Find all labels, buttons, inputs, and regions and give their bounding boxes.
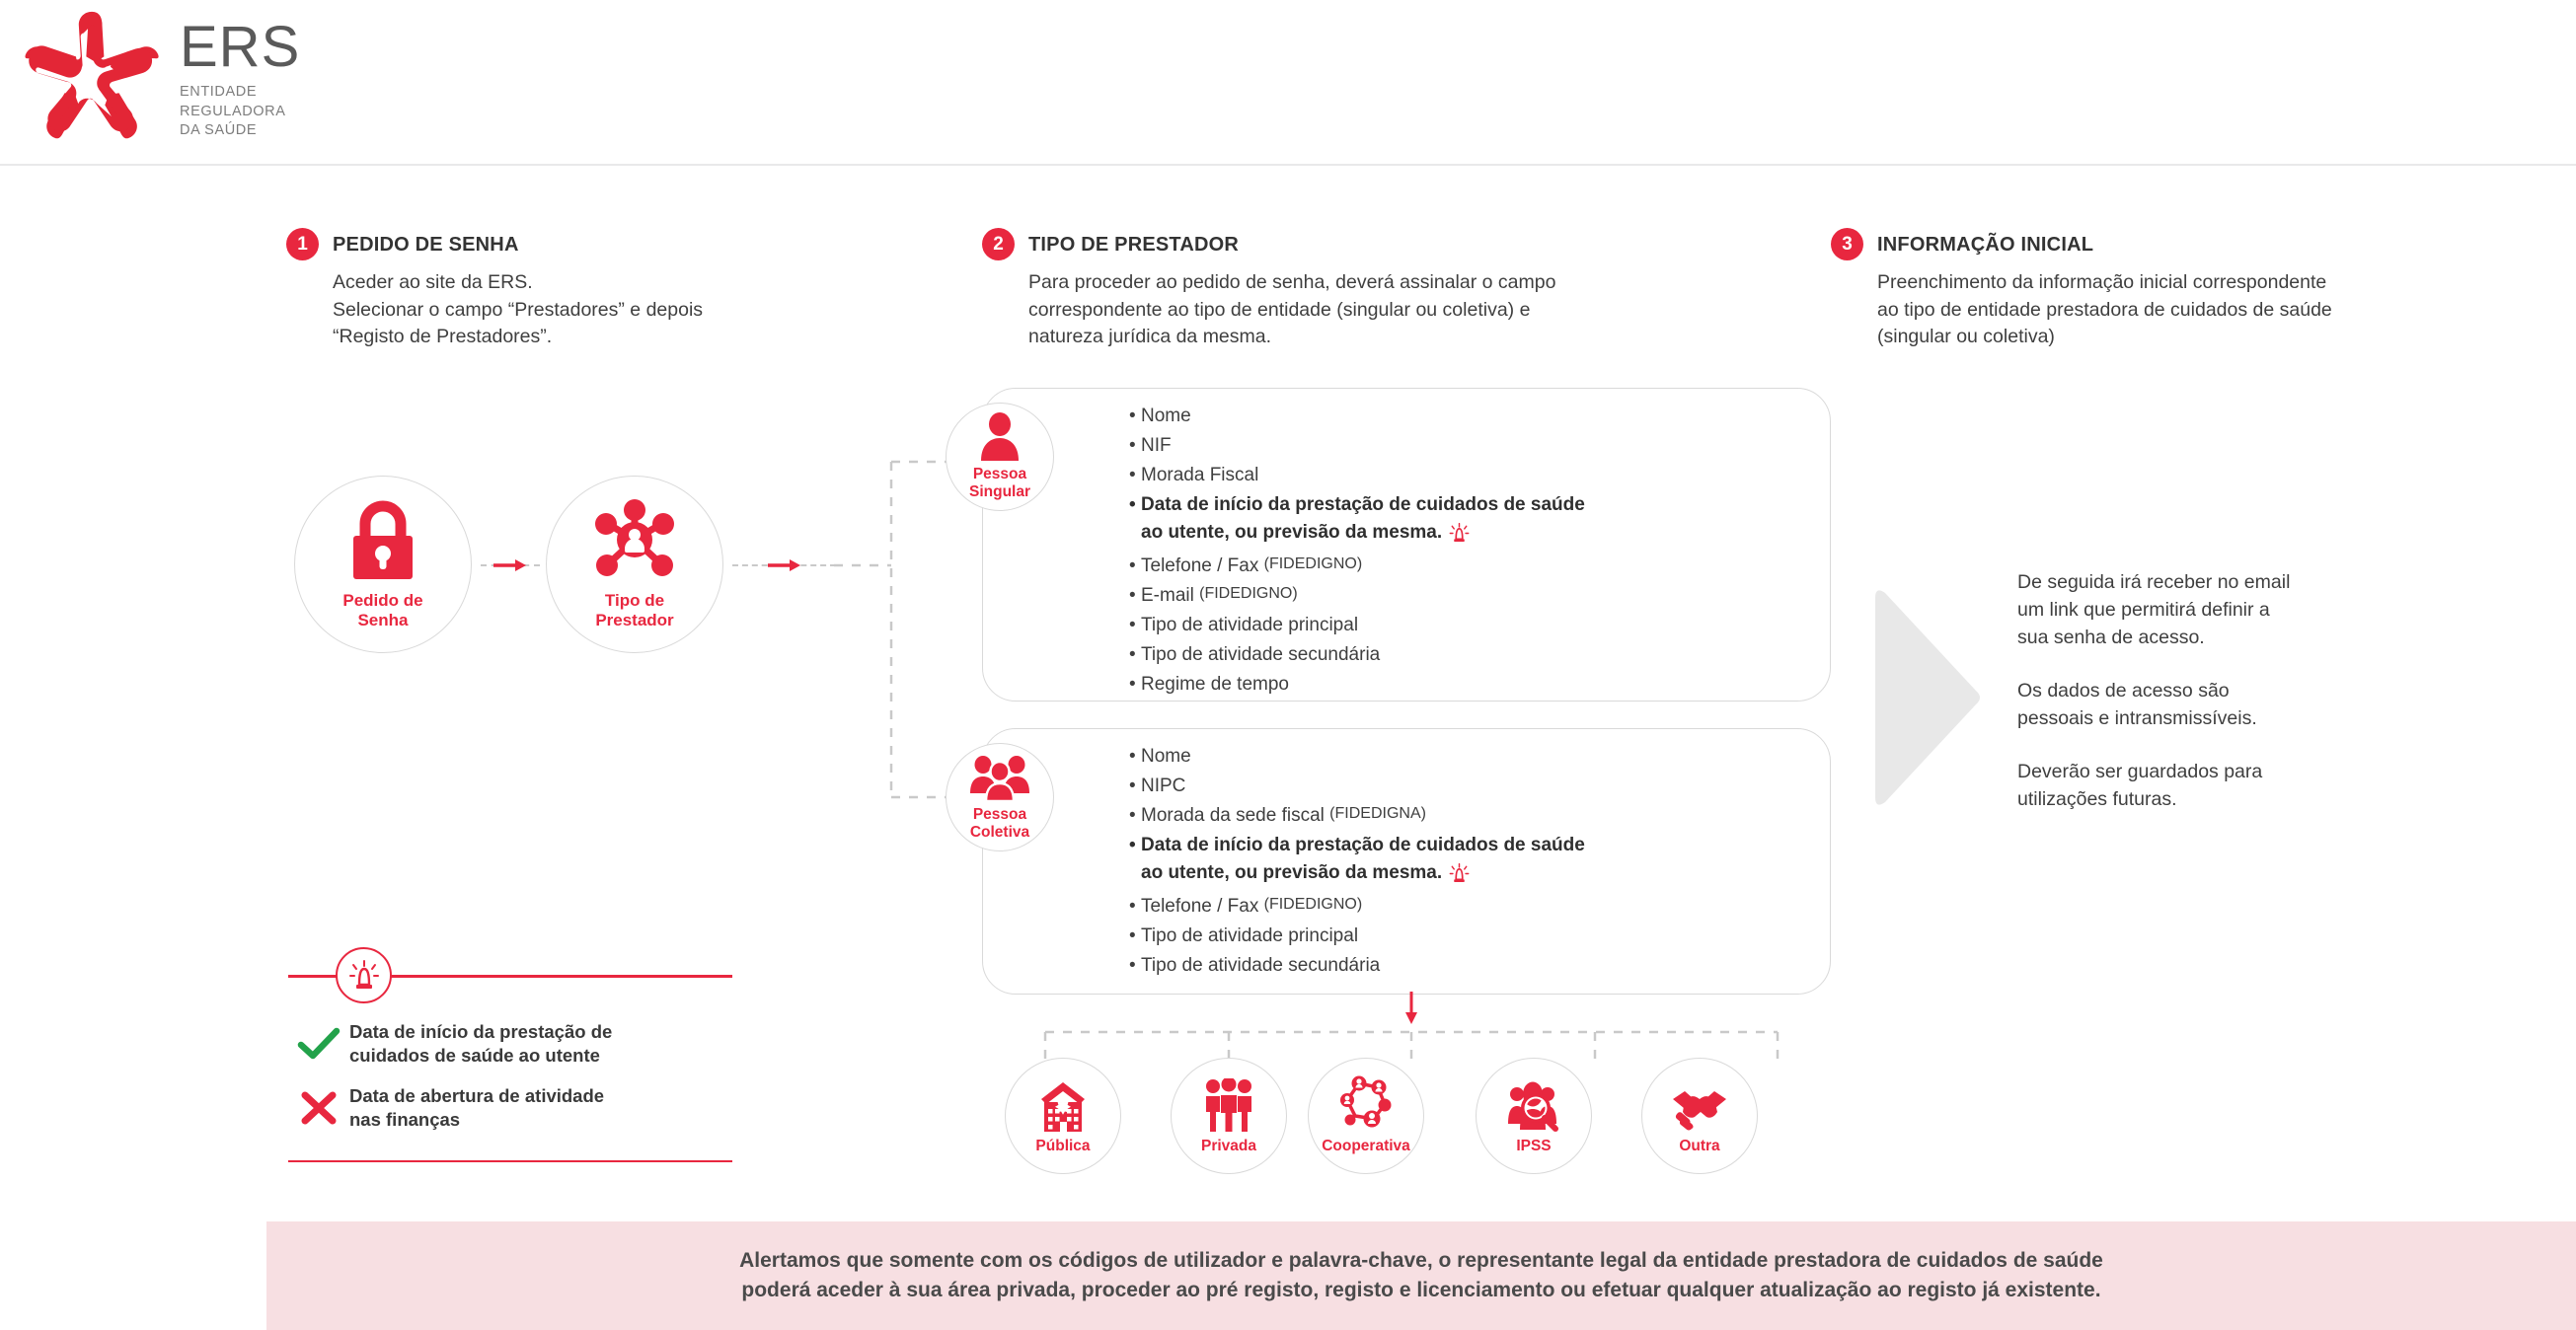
- red-cross-icon: [288, 1090, 349, 1126]
- three-people-icon: [1203, 1076, 1254, 1132]
- hospital-building-icon: [1035, 1076, 1091, 1132]
- right-note-block: De seguida irá receber no email um link …: [2017, 568, 2442, 814]
- single-person-icon: [977, 413, 1023, 461]
- bullet-item: •Nome: [1129, 406, 1585, 425]
- step-1-block: 1 PEDIDO DE SENHA Aceder ao site da ERS.…: [286, 232, 839, 351]
- entity-type-ipss[interactable]: IPSS: [1476, 1058, 1592, 1174]
- bullet-dot-icon: •: [1129, 806, 1141, 825]
- bullet-item-text: Tipo de atividade principal: [1141, 926, 1358, 945]
- entity-type-publica[interactable]: Pública: [1005, 1058, 1121, 1174]
- bullet-item: •Tipo de atividade secundária: [1129, 956, 1585, 975]
- step-2-number: 2: [982, 228, 1015, 260]
- bullet-item: •Data de início da prestação de cuidados…: [1129, 495, 1585, 514]
- logo-subtitle-line-1: ENTIDADE: [180, 83, 300, 102]
- alert-banner-text: Alertamos que somente com os códigos de …: [739, 1246, 2103, 1306]
- bullet-item: •Data de início da prestação de cuidados…: [1129, 836, 1585, 854]
- bullet-dot-icon: •: [1129, 616, 1141, 634]
- step-2-title: TIPO DE PRESTADOR: [1028, 232, 1239, 257]
- bullet-item-text: Morada da sede fiscal: [1141, 806, 1329, 825]
- bullet-item: •Morada da sede fiscal (FIDEDIGNA): [1129, 806, 1585, 825]
- padlock-icon: [345, 498, 420, 581]
- bullet-dot-icon: •: [1129, 556, 1141, 575]
- bullet-item: •E-mail (FIDEDIGNO): [1129, 586, 1585, 605]
- group-people-icon: [969, 754, 1030, 801]
- bullet-dot-icon: •: [1129, 675, 1141, 694]
- step-1-number: 1: [286, 228, 319, 260]
- step-3-body: Preenchimento da informação inicial corr…: [1877, 269, 2462, 351]
- step-1-body: Aceder ao site da ERS. Selecionar o camp…: [333, 269, 839, 351]
- ers-starfish-logo-icon: [18, 10, 168, 150]
- avatar-label: Pessoa Coletiva: [970, 806, 1029, 842]
- entity-type-privada[interactable]: Privada: [1171, 1058, 1287, 1174]
- legend-label: Data de início da prestação de cuidados …: [349, 1020, 612, 1069]
- bullet-item: •NIF: [1129, 436, 1585, 455]
- right-chevron-arrow-icon: [1867, 584, 1982, 811]
- bullet-item-text: Telefone / Fax: [1141, 897, 1264, 916]
- logo-subtitle-line-3: DA SAÚDE: [180, 121, 300, 140]
- entity-type-label: IPSS: [1516, 1138, 1551, 1154]
- legend-siren-badge: [336, 947, 392, 1003]
- bullet-item-text: Telefone / Fax: [1141, 556, 1264, 575]
- bullet-dot-icon: •: [1129, 436, 1141, 455]
- bullet-dot-icon: •: [1129, 836, 1141, 854]
- legend-divider-bottom: [288, 1160, 732, 1163]
- flow-circle-pedido-senha[interactable]: Pedido de Senha: [294, 476, 472, 653]
- bullet-dot-icon: •: [1129, 747, 1141, 766]
- bullet-item-text: Tipo de atividade secundária: [1141, 645, 1380, 664]
- bullet-item-note: (FIDEDIGNA): [1329, 806, 1426, 822]
- bullet-item: •Regime de tempo: [1129, 675, 1585, 694]
- logo-acronym: ERS: [180, 19, 300, 76]
- entity-type-label: Privada: [1201, 1138, 1256, 1154]
- cooperative-network-icon: [1337, 1076, 1395, 1132]
- bullet-item: •Telefone / Fax (FIDEDIGNO): [1129, 556, 1585, 575]
- bullet-dot-icon: •: [1129, 897, 1141, 916]
- ipss-people-magnifier-icon: [1506, 1076, 1561, 1132]
- siren-alert-icon: [1449, 523, 1470, 548]
- bullet-item-text: Nome: [1141, 747, 1191, 766]
- bullet-item: •Tipo de atividade principal: [1129, 926, 1585, 945]
- handshake-icon: [1671, 1076, 1728, 1132]
- flow-arrow-2: [732, 555, 836, 575]
- entity-type-outra[interactable]: Outra: [1641, 1058, 1758, 1174]
- bullet-item-text: Data de início da prestação de cuidados …: [1141, 495, 1585, 514]
- avatar-label: Pessoa Singular: [969, 466, 1030, 501]
- right-note-paragraph-3: Deverão ser guardados para utilizações f…: [2017, 758, 2442, 813]
- bullet-dot-icon: •: [1129, 586, 1141, 605]
- ers-logo: ERS ENTIDADE REGULADORA DA SAÚDE: [18, 10, 300, 150]
- right-note-paragraph-2: Os dados de acesso são pessoais e intran…: [2017, 677, 2442, 732]
- bullet-dot-icon: •: [1129, 776, 1141, 795]
- alert-banner: Alertamos que somente com os códigos de …: [266, 1221, 2576, 1330]
- avatar-pessoa-singular: Pessoa Singular: [946, 403, 1054, 511]
- step-3-title: INFORMAÇÃO INICIAL: [1877, 232, 2093, 257]
- green-check-icon: [288, 1027, 349, 1061]
- logo-subtitle-line-2: REGULADORA: [180, 103, 300, 121]
- avatar-pessoa-coletiva: Pessoa Coletiva: [946, 743, 1054, 851]
- right-note-paragraph-1: De seguida irá receber no email um link …: [2017, 568, 2442, 651]
- bullet-item: •Tipo de atividade principal: [1129, 616, 1585, 634]
- flow-circle-label: Pedido de Senha: [342, 591, 422, 631]
- siren-alert-icon: [1449, 863, 1470, 888]
- bullet-item: •Nome: [1129, 747, 1585, 766]
- network-person-icon: [592, 498, 677, 581]
- entity-type-fan-connector: [987, 992, 1836, 1061]
- bullet-dot-icon: •: [1129, 466, 1141, 484]
- page-header: ERS ENTIDADE REGULADORA DA SAÚDE: [0, 0, 2576, 166]
- right-arrow-icon: [493, 557, 527, 573]
- bullet-dot-icon: •: [1129, 645, 1141, 664]
- entity-type-label: Cooperativa: [1322, 1138, 1410, 1154]
- bullet-item-text: NIF: [1141, 436, 1172, 455]
- bullet-dot-icon: •: [1129, 926, 1141, 945]
- legend-row-invalid: Data de abertura de atividade nas finanç…: [288, 1084, 732, 1133]
- bullet-item-text: Morada Fiscal: [1141, 466, 1258, 484]
- legend-block: Data de início da prestação de cuidados …: [288, 947, 732, 1162]
- bullet-item: •Morada Fiscal: [1129, 466, 1585, 484]
- bullet-item-note: (FIDEDIGNO): [1264, 556, 1363, 572]
- bullet-dot-icon: •: [1129, 495, 1141, 514]
- bullet-item: •ao utente, ou previsão da mesma.: [1129, 523, 1585, 548]
- step-3-block: 3 INFORMAÇÃO INICIAL Preenchimento da in…: [1831, 232, 2462, 351]
- bullet-item-text: Data de início da prestação de cuidados …: [1141, 836, 1585, 854]
- legend-label: Data de abertura de atividade nas finanç…: [349, 1084, 604, 1133]
- bullet-item-note: (FIDEDIGNO): [1264, 897, 1363, 913]
- bullet-item-text: ao utente, ou previsão da mesma.: [1141, 523, 1442, 542]
- flow-circle-label: Tipo de Prestador: [595, 591, 673, 631]
- bullet-item-text: Tipo de atividade principal: [1141, 616, 1358, 634]
- card-pessoa-singular: Pessoa Singular •Nome•NIF•Morada Fiscal•…: [982, 388, 1831, 702]
- bullet-item-text: Nome: [1141, 406, 1191, 425]
- right-arrow-icon: [768, 557, 801, 573]
- bullet-item-text: E-mail: [1141, 586, 1199, 605]
- bullet-item: •Tipo de atividade secundária: [1129, 645, 1585, 664]
- bullet-list-pessoa-coletiva: •Nome•NIPC•Morada da sede fiscal (FIDEDI…: [1129, 747, 1585, 986]
- bullet-item-text: Tipo de atividade secundária: [1141, 956, 1380, 975]
- bullet-item-text: ao utente, ou previsão da mesma.: [1141, 863, 1442, 882]
- siren-alert-icon: [348, 960, 380, 992]
- entity-type-label: Outra: [1679, 1138, 1719, 1154]
- bullet-item-text: NIPC: [1141, 776, 1185, 795]
- bullet-item: •ao utente, ou previsão da mesma.: [1129, 863, 1585, 888]
- bullet-item-text: Regime de tempo: [1141, 675, 1289, 694]
- flow-circle-tipo-prestador[interactable]: Tipo de Prestador: [546, 476, 723, 653]
- flow-arrow-1: [481, 555, 540, 575]
- bullet-list-pessoa-singular: •Nome•NIF•Morada Fiscal•Data de início d…: [1129, 406, 1585, 704]
- bullet-dot-icon: •: [1129, 406, 1141, 425]
- step-2-body: Para proceder ao pedido de senha, deverá…: [1028, 269, 1673, 351]
- bullet-item: •NIPC: [1129, 776, 1585, 795]
- step-2-block: 2 TIPO DE PRESTADOR Para proceder ao ped…: [982, 232, 1673, 351]
- bullet-item: •Telefone / Fax (FIDEDIGNO): [1129, 897, 1585, 916]
- bullet-dot-icon: •: [1129, 956, 1141, 975]
- step-1-title: PEDIDO DE SENHA: [333, 232, 519, 257]
- entity-type-label: Pública: [1035, 1138, 1090, 1154]
- card-pessoa-coletiva: Pessoa Coletiva •Nome•NIPC•Morada da sed…: [982, 728, 1831, 995]
- entity-type-cooperativa[interactable]: Cooperativa: [1308, 1058, 1424, 1174]
- legend-row-valid: Data de início da prestação de cuidados …: [288, 1020, 732, 1069]
- step-3-number: 3: [1831, 228, 1863, 260]
- bullet-item-note: (FIDEDIGNO): [1199, 586, 1298, 602]
